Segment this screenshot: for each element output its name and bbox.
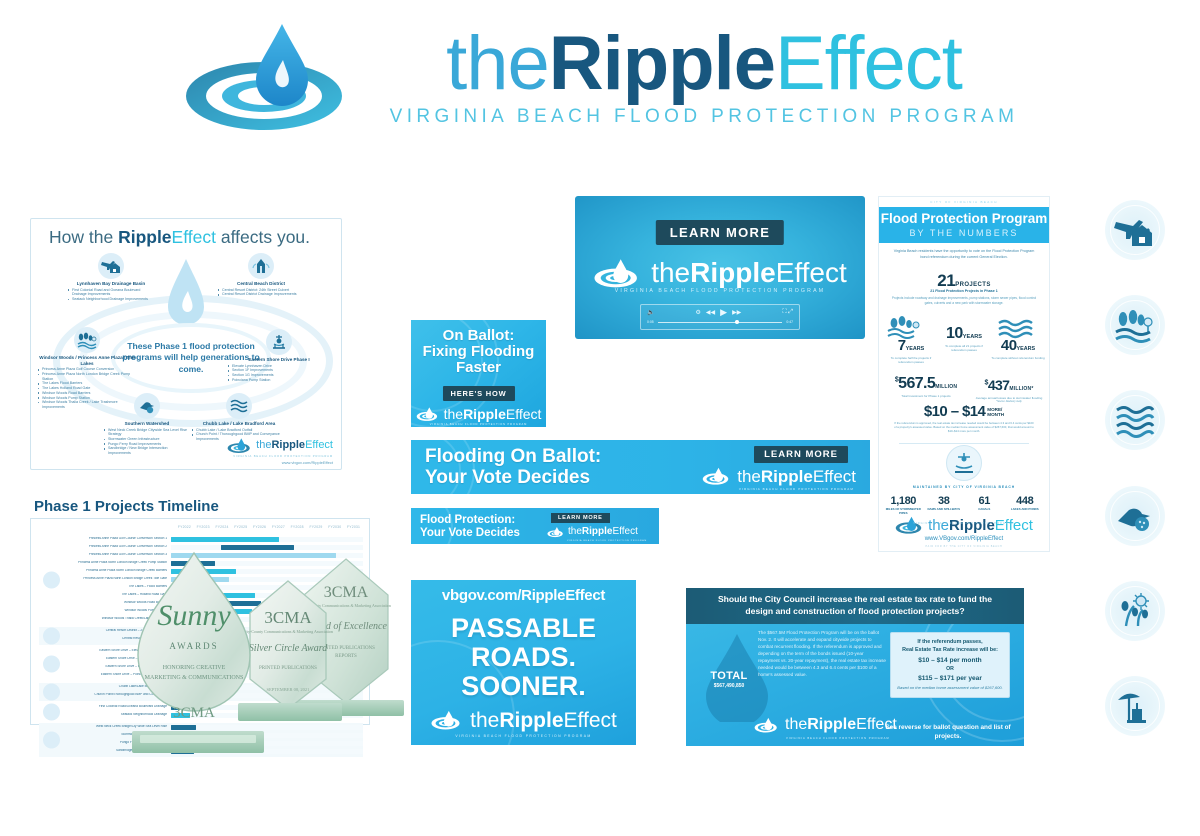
node-heading: Windsor Woods / Princess Anne Plaza / Th… (37, 355, 137, 366)
on-ballot-square-ad[interactable]: On Ballot: Fixing Flooding Faster HERE'S… (411, 320, 546, 427)
tax-box-headline: If the referendum passes,Real Estate Tax… (896, 639, 1004, 654)
gantt-track (171, 601, 363, 606)
brand-masthead: theRippleEffect VIRGINIA BEACH FLOOD PRO… (0, 18, 1200, 168)
gantt-bar (171, 585, 213, 590)
node-chubb-lake[interactable]: Chubb Lake / Lake Bradford Area Chubb La… (191, 393, 287, 442)
numbers-header: Flood Protection Program BY THE NUMBERS (879, 207, 1049, 243)
gantt-bar (171, 553, 336, 558)
roads-url[interactable]: vbgov.com/RippleEffect (411, 587, 636, 604)
bird-berry-icon[interactable] (1105, 486, 1165, 546)
affects-footer-logo: theRippleEffect VIRGINIA BEACH FLOOD PRO… (204, 437, 333, 465)
leaderboard-headline: Flooding On Ballot: Your Vote Decides (425, 446, 601, 489)
gantt-track (171, 593, 363, 598)
numbers-heading: Flood Protection Program (881, 212, 1048, 226)
node-southern-watershed[interactable]: Southern Watershed West Neck Creek Bridg… (103, 393, 191, 456)
sun-marsh-icon[interactable] (1105, 581, 1165, 641)
resort-building-icon (248, 253, 274, 279)
gantt-row[interactable]: Eastern Shore Drive – Phase 1, Section 1… (39, 663, 363, 671)
gantt-bar (171, 629, 204, 634)
gantt-row-label: Eastern Shore Drive – Phase 1, Section 1… (39, 657, 171, 660)
gantt-row[interactable]: West Neck Creek Bridge/Cty Wide Sea Leve… (39, 723, 363, 731)
gantt-row[interactable]: Sandbridge/New Bridge Intersection (39, 747, 363, 755)
timeline-title: Phase 1 Projects Timeline (34, 498, 219, 515)
ripple-drop-logo-icon (895, 515, 925, 535)
gantt-track (171, 657, 363, 662)
passable-roads-ad[interactable]: vbgov.com/RippleEffect PASSABLE ROADS. S… (411, 580, 636, 745)
tax-or: OR (896, 666, 1004, 672)
wordmark-ripple: Ripple (549, 21, 775, 106)
gantt-row-label: Sandbridge/New Bridge Intersection (39, 749, 171, 752)
gantt-track (171, 553, 363, 558)
gantt-row-label: Princess Anne Plaza North London Bridge … (39, 561, 171, 564)
numbers-footer-logo: theRippleEffect (879, 515, 1049, 535)
gantt-track (171, 733, 363, 738)
gantt-bar (171, 561, 215, 566)
gantt-track (171, 545, 363, 550)
gantt-track (171, 741, 363, 746)
gantt-chart: FY2022FY2023FY2024FY2025FY2026FY2027FY20… (39, 525, 363, 718)
gantt-track (171, 637, 363, 642)
node-heading: Lynnhaven Bay Drainage Basin (67, 281, 155, 287)
gantt-axis-tick: FY2024 (213, 525, 232, 534)
gantt-row-label: The Lakes – Flood Barriers (39, 585, 171, 588)
logo-lockup: theRippleEffect VIRGINIA BEACH FLOOD PRO… (182, 18, 1019, 138)
gantt-bar (171, 593, 255, 598)
gantt-row[interactable]: Eastern Shore Drive – Phase 1, Section 1… (39, 655, 363, 663)
node-heading: Chubb Lake / Lake Bradford Area (191, 421, 287, 427)
flooding-on-ballot-leaderboard-ad[interactable]: Flooding On Ballot: Your Vote Decides LE… (411, 440, 870, 494)
gantt-row-label: Princess Anne Plaza North London Bridge … (39, 577, 171, 580)
gantt-bar (171, 577, 229, 582)
gantt-track (171, 585, 363, 590)
gantt-row[interactable]: First Colonial Road/Oceana Boulevard Dra… (39, 703, 363, 711)
scrub-track[interactable] (658, 322, 783, 323)
gantt-row-label: Pungo Ferry Road Improvements (39, 741, 171, 744)
banner-learn-more-button[interactable]: LEARN MORE (551, 513, 610, 523)
gantt-row-label: Seatack Neighborhood Drainage (39, 713, 171, 716)
gantt-row[interactable]: Central Resort District Drainage (39, 635, 363, 643)
waves-icon (997, 317, 1039, 339)
gantt-track (171, 693, 363, 698)
gantt-track (171, 577, 363, 582)
plane-house-icon[interactable] (1105, 200, 1165, 260)
stat-canals: 61CANALS (964, 495, 1005, 516)
gantt-track (171, 561, 363, 566)
projects-label: PROJECTS (955, 282, 991, 288)
gantt-bar (171, 733, 190, 738)
node-item: Princess Anne Plaza North London Bridge … (37, 372, 137, 381)
tax-range-note: If the referendum is approved, the real … (893, 421, 1035, 434)
current-time: 0:05 (647, 320, 654, 324)
gantt-axis-tick: FY2031 (344, 525, 363, 534)
node-item: Seatack Neighborhood Drainage Improvemen… (67, 297, 155, 302)
gantt-row-label: Stormwater Green Infrastructure (39, 733, 171, 736)
gantt-group: Princess Anne Plaza Golf Course Conversi… (39, 535, 363, 625)
gantt-bar (171, 705, 194, 710)
gantt-bar (171, 657, 192, 662)
gantt-bar (171, 665, 196, 670)
footer-url[interactable]: www.vbgov.com/RippleEffect (282, 460, 333, 465)
video-logo-lockup: theRippleEffect (593, 256, 847, 290)
watershed-icon-rail (1098, 200, 1172, 736)
play-icon[interactable]: ▶ (720, 307, 727, 318)
on-ballot-logo-lockup: theRippleEffect (416, 406, 542, 422)
money-stat-losses: $437MILLION* Average annual losses due t… (969, 377, 1049, 404)
roads-logo-lockup: theRippleEffect (430, 709, 617, 731)
gantt-axis-tick: FY2029 (307, 525, 326, 534)
gantt-bar (171, 617, 221, 622)
leaderboard-tagline: VIRGINIA BEACH FLOOD PROTECTION PROGRAM (739, 487, 854, 491)
ballot-question-header: Should the City Council increase the rea… (686, 588, 1024, 624)
trees-golf-icon[interactable] (1105, 295, 1165, 355)
fullscreen-icon[interactable]: ⛶ ⤢ (782, 309, 793, 316)
flood-protection-banner-ad[interactable]: Flood Protection: Your Vote Decides LEAR… (411, 508, 659, 544)
gantt-bar (171, 673, 190, 678)
gantt-track (171, 685, 363, 690)
gantt-row[interactable]: The Lakes – Holland Road Gate (39, 591, 363, 599)
gantt-row[interactable]: Chubb Lake/Lake Bradford Outfall (39, 683, 363, 691)
money-stat-total: $567.5MILLION Total Investment for Phase… (881, 375, 971, 398)
years-stat-7: 7YEARS To complete half the projects if … (885, 337, 937, 364)
gantt-bar (171, 693, 192, 698)
projects-note: Projects include roadway and drainage im… (891, 296, 1037, 305)
stat-lakes: 448LAKES AND PONDS (1005, 495, 1046, 516)
stat-pipes: 1,180MILES OF STORMWATER PIPES (883, 495, 924, 516)
phase1-timeline-chart[interactable]: FY2022FY2023FY2024FY2025FY2026FY2027FY20… (30, 518, 370, 725)
gantt-row-label: Princess Anne Plaza Golf Course Conversi… (39, 537, 171, 540)
numbers-subheading: BY THE NUMBERS (909, 228, 1018, 238)
ripple-drop-logo-icon (430, 709, 463, 731)
gantt-axis-tick: FY2023 (194, 525, 213, 534)
numbers-footer-tagline: VIRGINIA BEACH FLOOD PROTECTION PROGRAM (879, 522, 1049, 525)
gantt-row-label: West Neck Creek Bridge/Cty Wide Sea Leve… (39, 725, 171, 728)
node-eastern-shore-drive[interactable]: Eastern Shore Drive Phase I Elevate Lynn… (227, 329, 331, 382)
divider (899, 443, 1029, 444)
projects-subtext: 21 Flood Protection Projects in Phase 1 (879, 289, 1049, 293)
mailer-body-text: The $567.5M Flood Protection Program wil… (758, 630, 886, 679)
gantt-row[interactable]: Pungo Ferry Road Improvements (39, 739, 363, 747)
video-player-creative[interactable]: LEARN MORE theRippleEffect VIRGINIA BEAC… (575, 196, 865, 339)
heres-how-button[interactable]: HERE'S HOW (442, 386, 514, 401)
trees-golf-icon (887, 315, 927, 339)
gantt-row[interactable]: Eastern Shore Drive – Elevate Lynnhaven … (39, 647, 363, 655)
banner-logo-lockup: theRippleEffect (547, 526, 638, 538)
gantt-track (171, 713, 363, 718)
gantt-row[interactable]: Princess Anne Plaza North London Bridge … (39, 567, 363, 575)
gantt-group: Chubb Lake/Lake Bradford OutfallChurch P… (39, 683, 363, 701)
fountain-icon (266, 329, 292, 355)
ripple-drop-logo-icon (593, 256, 643, 290)
gantt-row[interactable]: Princess Anne Plaza Golf Course Conversi… (39, 551, 363, 559)
gantt-row[interactable]: Princess Anne Plaza North London Bridge … (39, 559, 363, 567)
maintained-label: MAINTAINED BY CITY OF VIRGINIA BEACH (879, 485, 1049, 489)
gantt-track (171, 649, 363, 654)
gantt-bar (171, 649, 200, 654)
gantt-row-label: Chubb Lake/Lake Bradford Outfall (39, 685, 171, 688)
ripple-drop-logo-icon (416, 406, 440, 422)
duration: 0:47 (786, 320, 793, 324)
gantt-row-label: Windsor Woods Road Barriers (39, 601, 171, 604)
gantt-row-label: Eastern Shore Drive – Poinciana Pump Sta… (39, 673, 171, 676)
maintained-stats: 1,180MILES OF STORMWATER PIPES 38DAMS AN… (883, 495, 1045, 516)
gantt-track (171, 725, 363, 730)
total-callout: TOTAL $567,490,850 (700, 670, 758, 689)
node-central-beach[interactable]: Central Beach District Central Resort Di… (217, 253, 305, 297)
referendum-mailer[interactable]: Should the City Council increase the rea… (686, 588, 1024, 746)
footer-tagline: VIRGINIA BEACH FLOOD PROTECTION PROGRAM (233, 455, 333, 458)
on-ballot-tagline: VIRGINIA BEACH FLOOD PROTECTION PROGRAM (430, 423, 528, 426)
ripple-drop-logo-icon (547, 526, 565, 538)
gantt-row[interactable]: Princess Anne Plaza Golf Course Conversi… (39, 543, 363, 551)
gantt-bar (171, 725, 196, 730)
affects-you-diagram: These Phase 1 flood protection programs … (31, 253, 341, 469)
tax-amount-month: $10 – $14 per month (896, 657, 1004, 664)
gantt-axis-tick: FY2027 (269, 525, 288, 534)
gantt-track (171, 569, 363, 574)
gantt-row[interactable]: Princess Anne Plaza Golf Course Conversi… (39, 535, 363, 543)
gantt-track (171, 617, 363, 622)
gantt-bar (171, 601, 261, 606)
gantt-row[interactable]: Princess Anne Plaza North London Bridge … (39, 575, 363, 583)
node-item: West Neck Creek Bridge Citywide Sea Leve… (103, 428, 191, 437)
gantt-row-label: Eastern Shore Drive – Phase 1, Section 1… (39, 665, 171, 668)
ripple-drop-logo-icon (754, 716, 780, 734)
gantt-row-label: Central Resort District – 24th Street Cu… (39, 629, 171, 632)
node-heading: Eastern Shore Drive Phase I (227, 357, 331, 363)
gantt-row[interactable]: Church Point/Thoroughgood BMP and Convey… (39, 691, 363, 699)
gantt-bar (171, 609, 252, 614)
numbers-url[interactable]: www.VBgov.com/RippleEffect (879, 536, 1049, 542)
numbers-credit: PAID FOR BY THE CITY OF VIRGINIA BEACH (879, 545, 1049, 548)
gantt-group: First Colonial Road/Oceana Boulevard Dra… (39, 703, 363, 721)
gantt-row-label: Windsor Woods Pump Station (39, 609, 171, 612)
gantt-track (171, 537, 363, 542)
gantt-axis-tick: FY2025 (231, 525, 250, 534)
tax-increase-box: If the referendum passes,Real Estate Tax… (890, 632, 1010, 698)
gantt-row-label: First Colonial Road/Oceana Boulevard Dra… (39, 705, 171, 708)
scrub-knob[interactable] (735, 320, 739, 324)
leaderboard-learn-more-button[interactable]: LEARN MORE (754, 446, 848, 463)
gantt-row[interactable]: Seatack Neighborhood Drainage (39, 711, 363, 719)
see-reverse-note: See reverse for ballot question and list… (872, 724, 1024, 742)
gantt-bar (171, 537, 279, 542)
on-ballot-headline: On Ballot: Fixing Flooding Faster (411, 328, 546, 377)
node-item: Sandbridge / New Bridge Intersection Imp… (103, 446, 191, 455)
waves-icon[interactable] (1105, 390, 1165, 450)
gantt-track (171, 629, 363, 634)
node-heading: Central Beach District (217, 281, 305, 287)
gantt-row-label: Windsor Woods Thalia Creek/Lake Trashmor… (39, 617, 171, 620)
projects-stat: 21PROJECTS (879, 271, 1049, 291)
gantt-axis-tick: FY2030 (325, 525, 344, 534)
ballot-question-text: Should the City Council increase the rea… (686, 594, 1024, 617)
brand-tagline: VIRGINIA BEACH FLOOD PROTECTION PROGRAM (390, 106, 1019, 128)
video-controls-bar[interactable]: 🔈 ⚙ ◀◀ ▶ ▶▶ ⛶ ⤢ 0:05 0:47 (640, 304, 800, 330)
brand-wordmark: theRippleEffect (446, 28, 962, 100)
video-wordmark: theRippleEffect (651, 259, 847, 287)
ripple-drop-logo-icon (227, 437, 253, 454)
years-stat-40: 40YEARS To complete without referendum f… (991, 337, 1045, 360)
gantt-row-label: Princess Anne Plaza Golf Course Conversi… (39, 553, 171, 556)
gantt-axis-tick: FY2028 (288, 525, 307, 534)
settings-icon[interactable]: ⚙ (696, 309, 701, 316)
gantt-bar (171, 713, 190, 718)
roads-headline: PASSABLE ROADS. SOONER. (411, 614, 636, 701)
gantt-bar (171, 741, 192, 746)
gantt-group: Eastern Shore Drive – Elevate Lynnhaven … (39, 647, 363, 681)
beach-umbrella-icon[interactable] (1105, 676, 1165, 736)
video-learn-more-button[interactable]: LEARN MORE (656, 220, 784, 245)
gantt-axis-tick: FY2022 (175, 525, 194, 534)
affects-you-title: How the RippleEffect affects you. (49, 227, 310, 248)
volume-icon[interactable]: 🔈 (647, 309, 654, 316)
fast-forward-icon[interactable]: ▶▶ (732, 309, 741, 316)
node-heading: Southern Watershed (103, 421, 191, 427)
gantt-track (171, 749, 363, 754)
ripple-drop-logo-icon (182, 18, 372, 138)
video-tagline: VIRGINIA BEACH FLOOD PROTECTION PROGRAM (615, 288, 826, 294)
wordmark-the: the (446, 21, 549, 106)
gantt-row[interactable]: Windsor Woods Pump Station (39, 607, 363, 615)
gantt-bar (171, 685, 198, 690)
gantt-row-label: Eastern Shore Drive – Elevate Lynnhaven … (39, 649, 171, 652)
gantt-axis-labels: FY2022FY2023FY2024FY2025FY2026FY2027FY20… (175, 525, 363, 534)
tax-amount-year: $115 – $171 per year (896, 675, 1004, 682)
gantt-row-label: Princess Anne Plaza Golf Course Conversi… (39, 545, 171, 548)
projects-value: 21 (937, 271, 955, 290)
gantt-row[interactable]: Windsor Woods Road Barriers (39, 599, 363, 607)
gantt-row[interactable]: Windsor Woods Thalia Creek/Lake Trashmor… (39, 615, 363, 623)
gantt-group: Central Resort District – 24th Street Cu… (39, 627, 363, 645)
gantt-bar (221, 545, 294, 550)
banner-headline: Flood Protection: Your Vote Decides (420, 514, 520, 540)
city-seal-icon (946, 445, 982, 481)
node-lynnhaven-bay[interactable]: Lynnhaven Bay Drainage Basin First Colon… (67, 253, 155, 302)
tax-box-note: Based on the median home assessment valu… (896, 685, 1004, 691)
node-item: Poinciana Pump Station (227, 378, 331, 383)
leaderboard-logo-lockup: theRippleEffect (702, 466, 856, 486)
gantt-group: West Neck Creek Bridge/Cty Wide Sea Leve… (39, 723, 363, 757)
tax-range-stat: $10 – $14MORE/MONTH (879, 403, 1049, 421)
trees-golf-icon (74, 327, 100, 353)
stat-dams: 38DAMS AND SPILLWAYS (924, 495, 965, 516)
by-the-numbers-infographic[interactable]: CITY OF VIRGINIA BEACH Flood Protection … (878, 196, 1050, 552)
gantt-bar (171, 569, 236, 574)
gantt-row-label: Princess Anne Plaza North London Bridge … (39, 569, 171, 572)
years-stat-10: 10YEARS To complete all 21 projects if r… (937, 325, 991, 352)
node-item: Central Resort District Drainage Improve… (217, 292, 305, 297)
banner-tagline: VIRGINIA BEACH FLOOD PROTECTION PROGRAM (567, 540, 647, 542)
video-scrubber[interactable]: 0:05 0:47 (647, 319, 793, 325)
rewind-icon[interactable]: ◀◀ (706, 309, 715, 316)
gantt-axis-tick: FY2026 (250, 525, 269, 534)
gantt-row[interactable]: Central Resort District – 24th Street Cu… (39, 627, 363, 635)
gantt-track (171, 705, 363, 710)
plane-house-icon (98, 253, 124, 279)
gantt-bar (171, 749, 194, 754)
ripple-drop-logo-icon (702, 466, 732, 486)
gantt-track (171, 665, 363, 670)
gantt-row[interactable]: Stormwater Green Infrastructure (39, 731, 363, 739)
numbers-eyebrow: CITY OF VIRGINIA BEACH (879, 200, 1049, 204)
gantt-row[interactable]: The Lakes – Flood Barriers (39, 583, 363, 591)
gantt-track (171, 673, 363, 678)
gantt-track (171, 609, 363, 614)
gantt-row-label: The Lakes – Holland Road Gate (39, 593, 171, 596)
numbers-intro: Virginia Beach residents have the opport… (893, 249, 1035, 260)
roads-tagline: VIRGINIA BEACH FLOOD PROTECTION PROGRAM (455, 734, 591, 738)
waves-icon (226, 393, 252, 419)
wordmark-effect: Effect (775, 21, 962, 106)
gantt-bar (171, 637, 194, 642)
gantt-row-label: Central Resort District Drainage (39, 637, 171, 640)
gantt-row-label: Church Point/Thoroughgood BMP and Convey… (39, 693, 171, 696)
bird-berry-icon (134, 393, 160, 419)
node-item: First Colonial Road and Oceana Boulevard… (67, 288, 155, 297)
affects-you-infographic[interactable]: How the RippleEffect affects you. These … (30, 218, 342, 470)
gantt-row[interactable]: Eastern Shore Drive – Poinciana Pump Sta… (39, 671, 363, 679)
